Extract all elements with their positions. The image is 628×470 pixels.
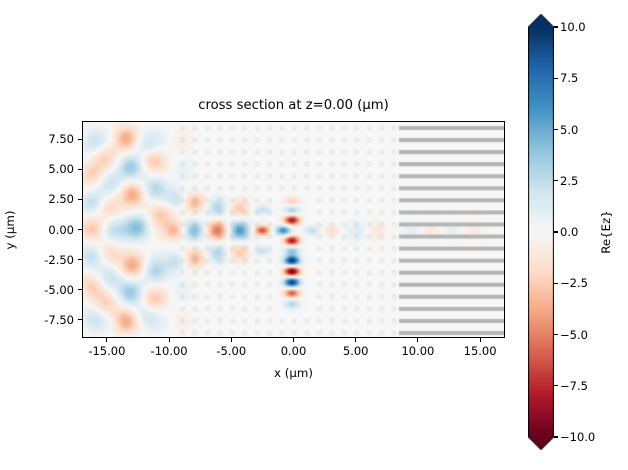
- colorbar-tick-mark: [554, 436, 558, 437]
- x-tick-mark: [106, 338, 107, 342]
- y-tick-mark: [78, 139, 82, 140]
- colorbar-tick-mark: [554, 385, 558, 386]
- colorbar-tick-mark: [554, 180, 558, 181]
- y-tick-label: 5.00: [48, 162, 74, 176]
- page-title: cross section at z=0.00 (μm): [82, 98, 505, 113]
- colorbar-tick-mark: [554, 283, 558, 284]
- colorbar-tick-label: 2.5: [560, 174, 578, 188]
- y-tick-label: 7.50: [48, 132, 74, 146]
- x-tick-mark: [293, 338, 294, 342]
- x-tick-mark: [355, 338, 356, 342]
- x-tick-label: 15.00: [464, 344, 497, 358]
- x-tick-mark: [231, 338, 232, 342]
- colorbar-tick-mark: [554, 231, 558, 232]
- colorbar-tick-label: 5.0: [560, 123, 578, 137]
- colorbar-tick-mark: [554, 334, 558, 335]
- x-tick-label: 0.00: [281, 344, 307, 358]
- field-heatmap: [83, 122, 505, 338]
- y-tick-label: 2.50: [48, 192, 74, 206]
- colorbar: [528, 14, 554, 450]
- x-axis-label: x (μm): [82, 366, 505, 380]
- y-tick-mark: [78, 289, 82, 290]
- colorbar-tick-label: −10.0: [560, 430, 595, 444]
- y-tick-label: 0.00: [48, 223, 74, 237]
- colorbar-tick-label: 7.5: [560, 71, 578, 85]
- colorbar-tick-mark: [554, 129, 558, 130]
- colorbar-tick-label: 0.0: [560, 225, 578, 239]
- colorbar-tick-label: −2.5: [560, 276, 588, 290]
- x-tick-label: -10.00: [151, 344, 188, 358]
- colorbar-gradient: [528, 14, 554, 450]
- x-tick-label: -15.00: [88, 344, 125, 358]
- figure-canvas: cross section at z=0.00 (μm) -15.00-10.0…: [0, 0, 628, 470]
- main-axes: [82, 121, 505, 338]
- colorbar-tick-mark: [554, 26, 558, 27]
- colorbar-label: Re{Ez}: [599, 210, 613, 254]
- y-tick-mark: [78, 229, 82, 230]
- x-tick-label: 5.00: [343, 344, 369, 358]
- y-tick-label: -7.50: [44, 313, 74, 327]
- y-tick-mark: [78, 169, 82, 170]
- colorbar-tick-mark: [554, 78, 558, 79]
- x-tick-label: 10.00: [401, 344, 434, 358]
- y-tick-label: -5.00: [44, 283, 74, 297]
- colorbar-tick-label: 10.0: [560, 20, 586, 34]
- colorbar-tick-label: −7.5: [560, 379, 588, 393]
- x-tick-label: -5.00: [216, 344, 246, 358]
- axes-frame: [82, 121, 505, 338]
- y-tick-mark: [78, 259, 82, 260]
- x-tick-mark: [417, 338, 418, 342]
- x-tick-mark: [480, 338, 481, 342]
- x-tick-mark: [169, 338, 170, 342]
- y-axis-label: y (μm): [3, 210, 17, 249]
- y-tick-label: -2.50: [44, 253, 74, 267]
- y-tick-mark: [78, 199, 82, 200]
- colorbar-tick-label: −5.0: [560, 328, 588, 342]
- y-tick-mark: [78, 319, 82, 320]
